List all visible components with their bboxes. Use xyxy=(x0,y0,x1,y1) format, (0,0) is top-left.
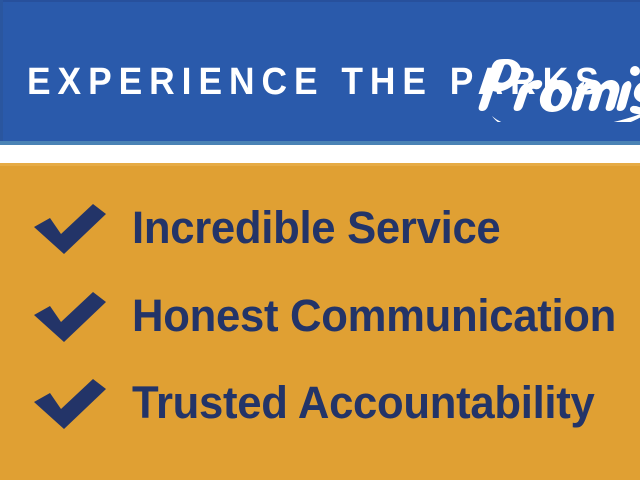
headline-script-promise xyxy=(465,44,640,122)
body-band-top-edge xyxy=(0,163,640,166)
header-band: EXPERIENCE THE PARKS xyxy=(0,0,640,145)
promise-row: Trusted Accountability xyxy=(0,374,640,436)
promise-row: Honest Communication xyxy=(0,287,640,349)
header-band-left-edge xyxy=(0,0,3,145)
check-icon xyxy=(31,378,109,430)
promise-label: Incredible Service xyxy=(132,199,500,261)
experience-the-parks-promise-banner: EXPERIENCE THE PARKS xyxy=(0,0,640,480)
check-icon xyxy=(31,203,109,255)
check-icon xyxy=(31,291,109,343)
headline: EXPERIENCE THE PARKS xyxy=(27,58,627,118)
promise-row: Incredible Service xyxy=(0,199,640,261)
promise-label: Trusted Accountability xyxy=(132,374,595,436)
promise-label: Honest Communication xyxy=(132,287,616,349)
header-band-top-edge xyxy=(0,0,640,2)
divider-band xyxy=(0,145,640,163)
